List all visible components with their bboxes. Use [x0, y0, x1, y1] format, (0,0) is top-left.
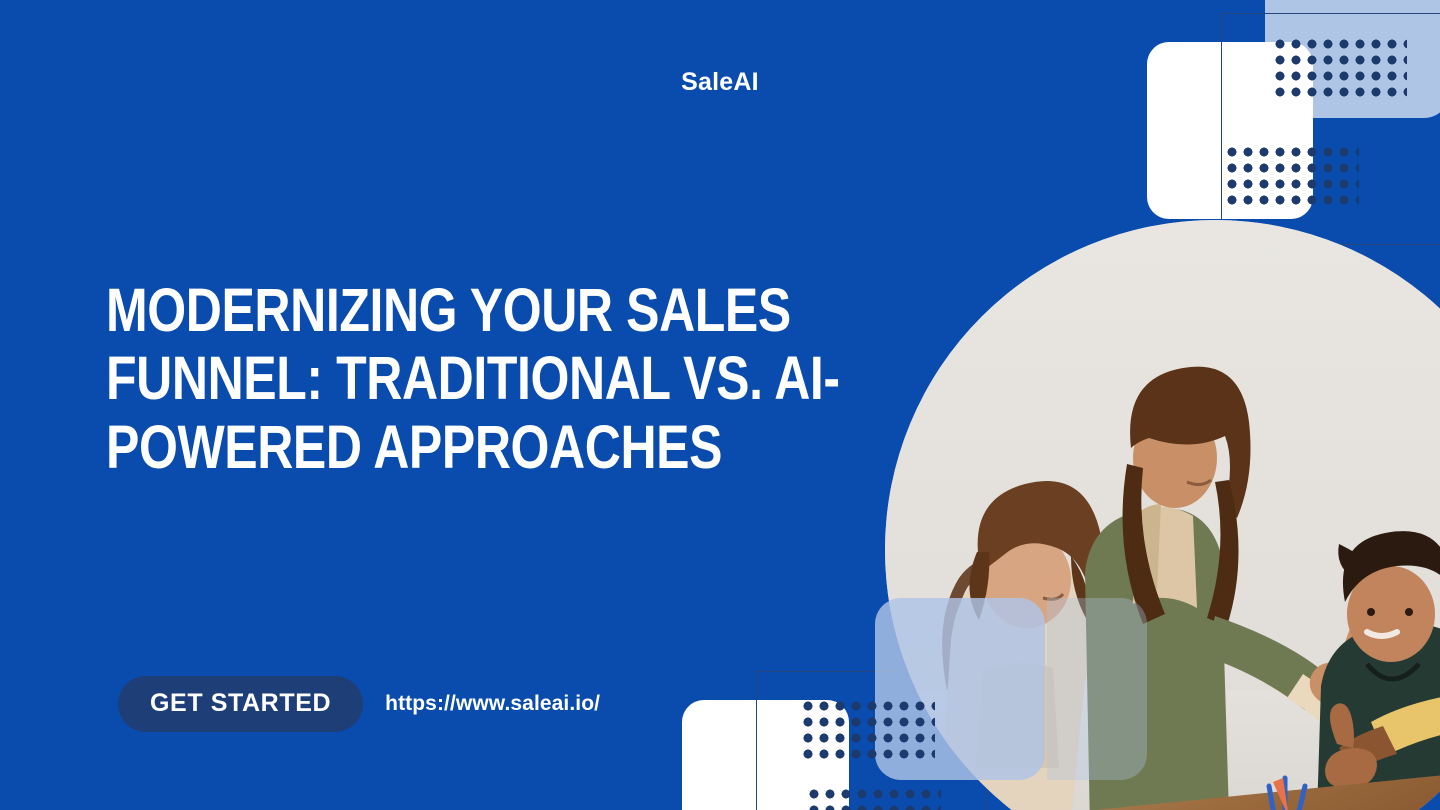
page-title: Modernizing Your Sales Funnel: Tradition…	[106, 276, 869, 481]
light-blue-overlay-rect-fade	[1047, 598, 1147, 780]
social-banner: SaleAI Modernizing Your Sales Funnel: Tr…	[0, 0, 1440, 810]
brand-logo: SaleAI	[0, 68, 1440, 97]
dot-grid-top-right-lower	[1224, 144, 1359, 208]
cta-row: GET STARTED https://www.saleai.io/	[118, 676, 600, 732]
site-url-link[interactable]: https://www.saleai.io/	[385, 692, 600, 716]
dot-grid-bottom-upper-front	[800, 698, 935, 762]
get-started-button[interactable]: GET STARTED	[118, 676, 363, 732]
dot-grid-bottom-lower	[806, 786, 941, 810]
